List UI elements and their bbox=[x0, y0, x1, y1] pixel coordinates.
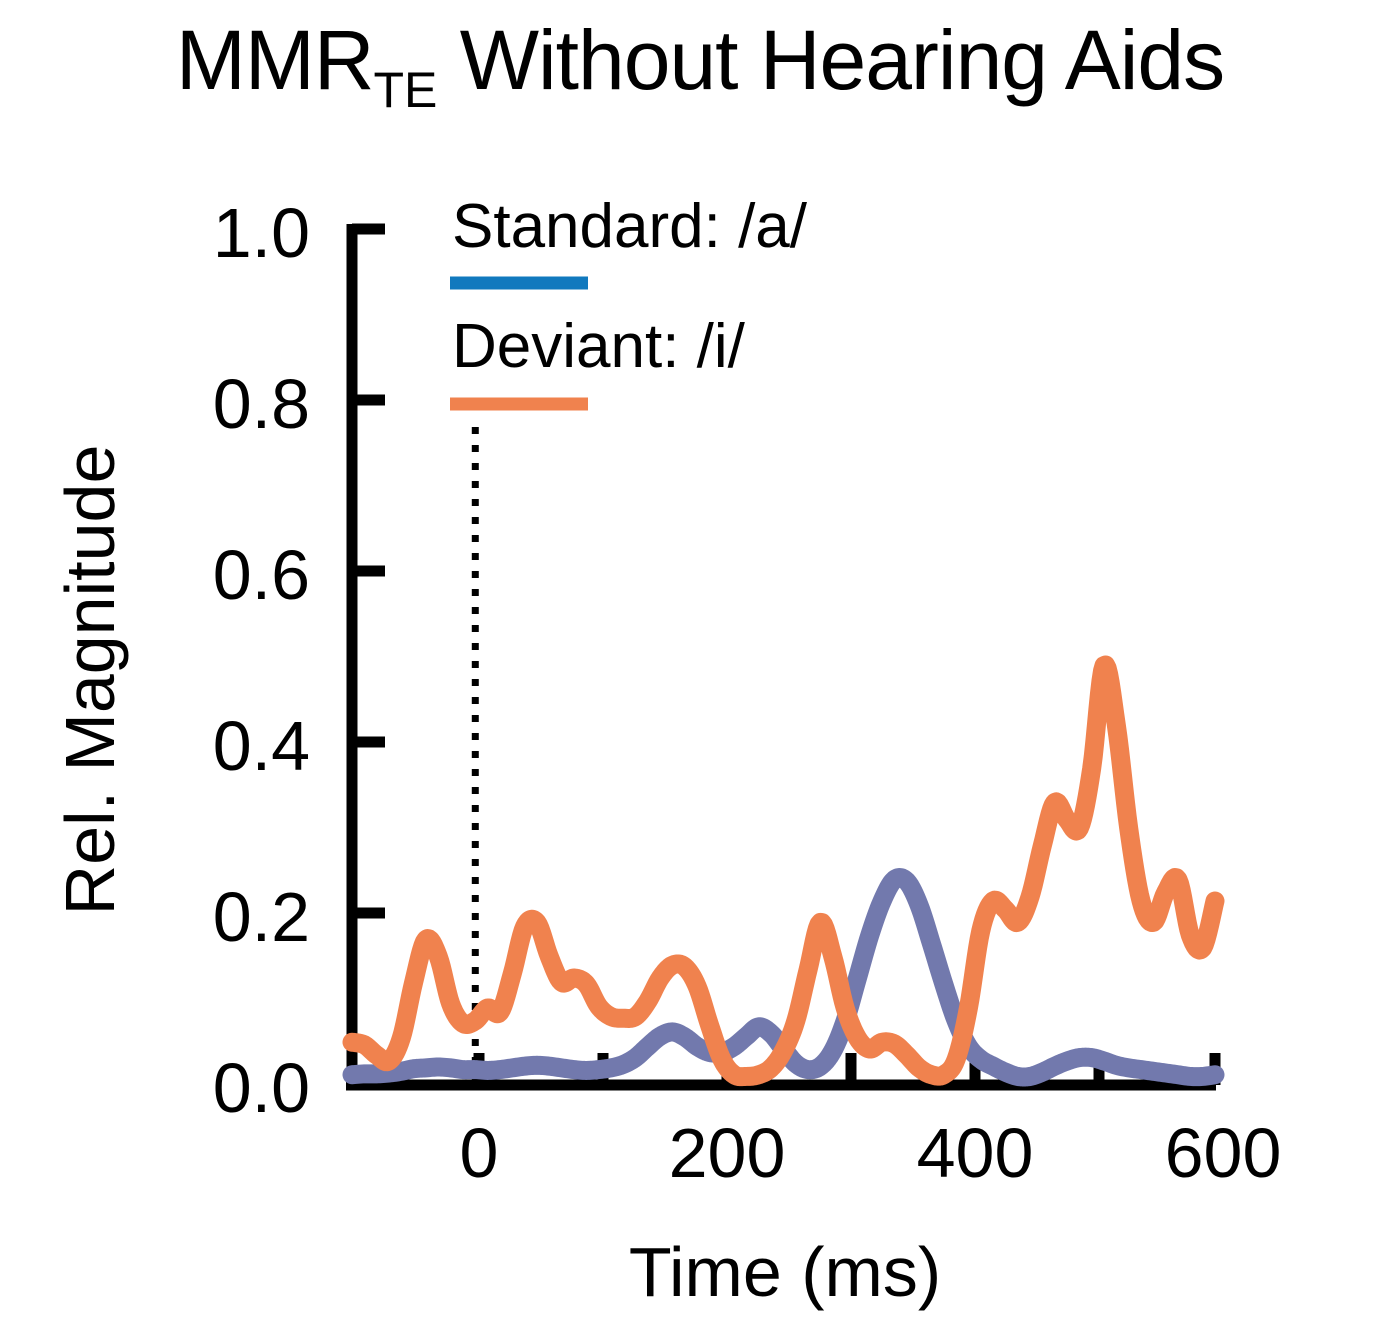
series-line-deviant bbox=[352, 665, 1215, 1077]
chart-figure: MMRTE Without Hearing Aids Rel. Magnitud… bbox=[0, 0, 1400, 1344]
plot-area bbox=[0, 0, 1400, 1344]
